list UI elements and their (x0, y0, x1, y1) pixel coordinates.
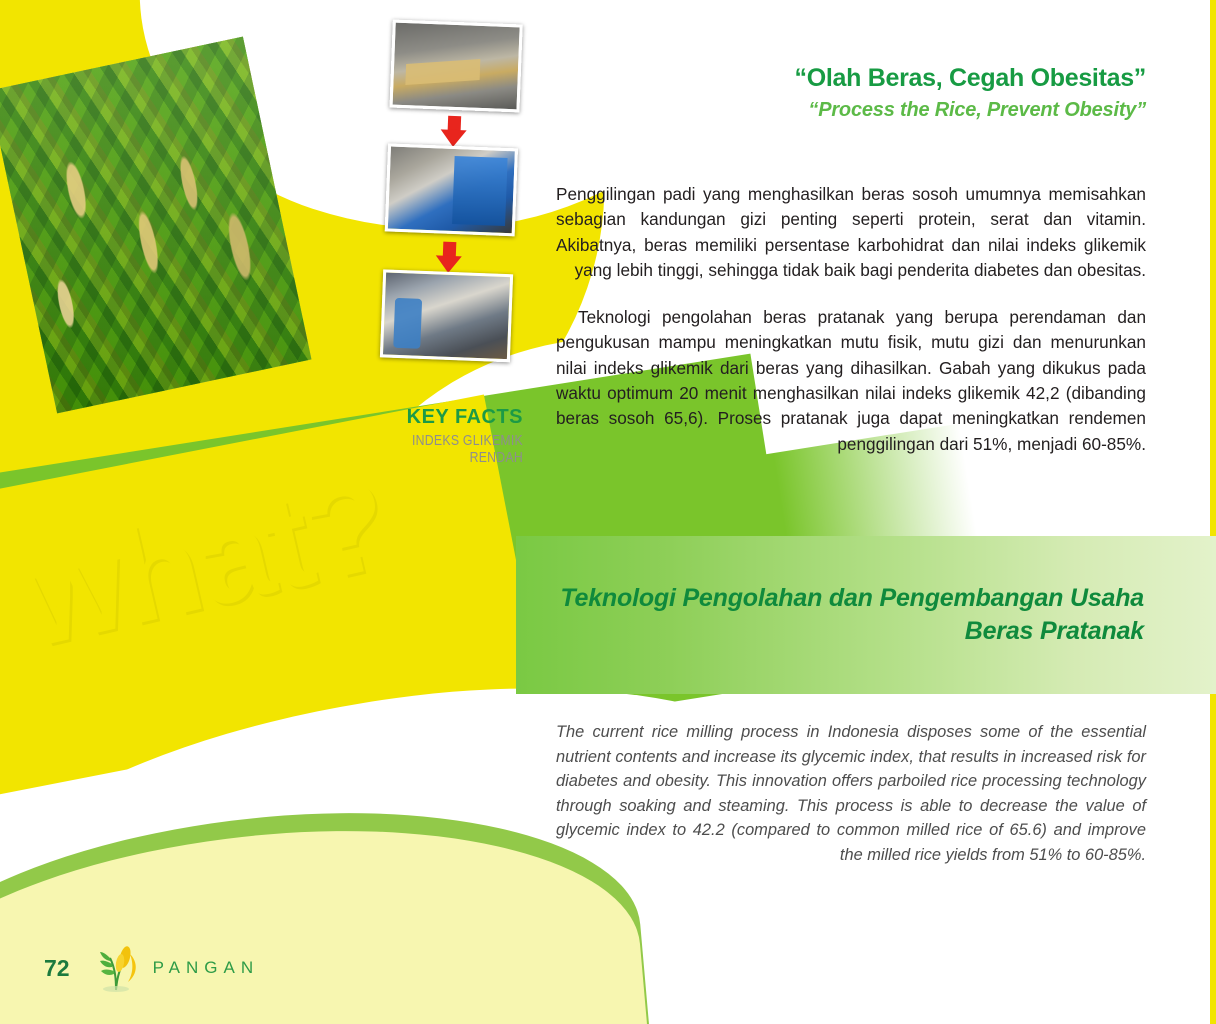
rice-stalk-icon (86, 944, 144, 992)
page-title: “Olah Beras, Cegah Obesitas” (556, 64, 1146, 93)
article-column: “Olah Beras, Cegah Obesitas” “Process th… (556, 64, 1146, 457)
process-photo-soaking (389, 20, 522, 113)
english-summary-paragraph: The current rice milling process in Indo… (556, 720, 1146, 868)
key-facts-subtitle: INDEKS GLIKEMIK RENDAH (359, 432, 523, 466)
body-paragraph-1: Penggilingan padi yang menghasilkan bera… (556, 182, 1146, 283)
arrow-down-icon (435, 241, 462, 272)
page-footer: 72 PANGAN (44, 944, 259, 992)
right-edge-strip (1210, 0, 1216, 1024)
key-facts-title: KEY FACTS (323, 406, 523, 429)
document-page: what? KEY FACTS INDEKS GLIKEMIK RENDAH “… (0, 0, 1216, 1024)
section-banner: Teknologi Pengolahan dan Pengembangan Us… (516, 536, 1216, 694)
section-banner-heading: Teknologi Pengolahan dan Pengembangan Us… (516, 582, 1216, 648)
brand-logo: PANGAN (86, 944, 260, 992)
rice-paddy-photo (0, 37, 311, 414)
page-number: 72 (44, 955, 70, 982)
process-photo-collage (373, 1, 536, 396)
process-photo-milling (380, 269, 513, 362)
rice-grain-texture (0, 37, 311, 414)
arrow-down-icon (440, 115, 467, 146)
brand-name: PANGAN (153, 958, 260, 978)
body-paragraph-2: Teknologi pengolahan beras pratanak yang… (556, 305, 1146, 457)
page-subtitle: “Process the Rice, Prevent Obesity” (556, 99, 1146, 122)
process-photo-steaming (385, 143, 518, 236)
what-wordmark: what? (8, 456, 399, 668)
key-facts-block: KEY FACTS INDEKS GLIKEMIK RENDAH (323, 406, 523, 466)
